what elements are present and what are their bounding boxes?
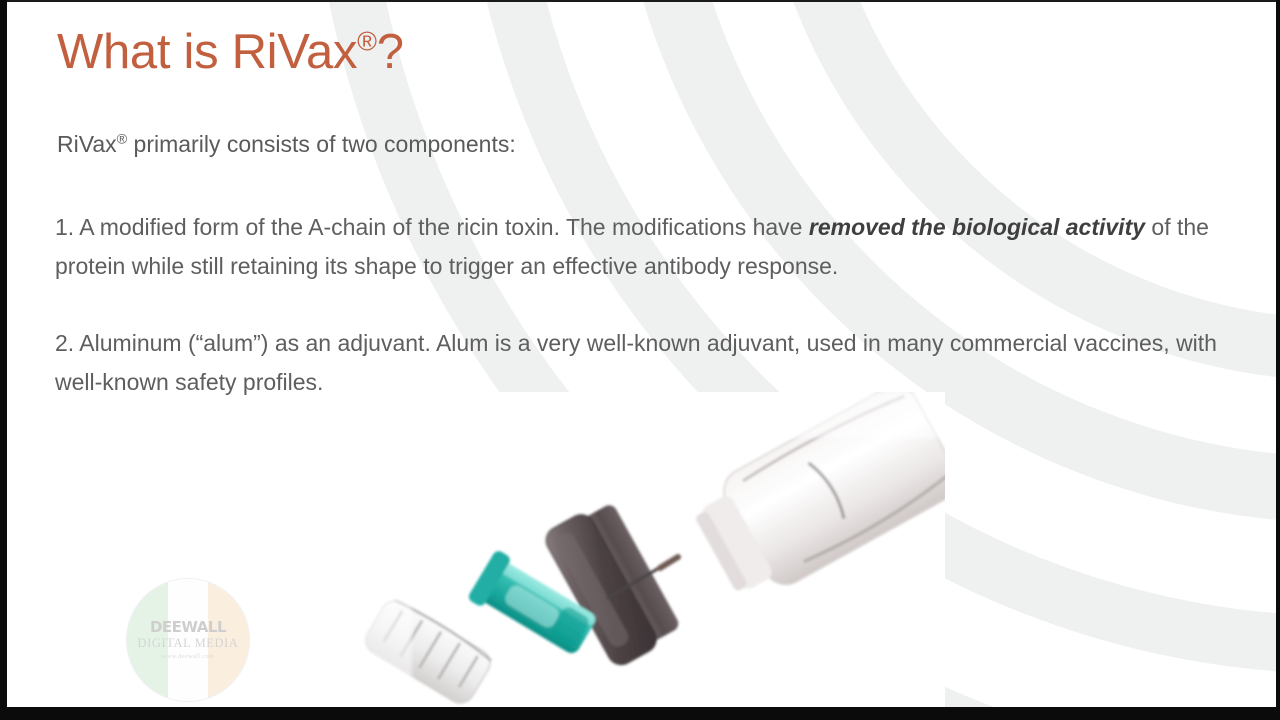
watermark-subtitle: DIGITAL MEDIA — [137, 637, 238, 650]
registered-trademark-icon: ® — [117, 131, 128, 147]
watermark-url: www.deewall.com — [162, 654, 215, 661]
paragraph-1-emphasis: removed the biological activity — [809, 214, 1145, 240]
body-paragraph-2: 2. Aluminum (“alum”) as an adjuvant. Alu… — [55, 324, 1251, 402]
paragraph-2-text: 2. Aluminum (“alum”) as an adjuvant. Alu… — [55, 330, 1217, 395]
watermark-brand: DEEWALL — [150, 620, 226, 635]
syringe-vial-photo — [360, 392, 945, 710]
bezel-top — [0, 0, 1280, 2]
lead-tail: primarily consists of two components: — [127, 131, 516, 157]
watermark-text-group: DEEWALL DIGITAL MEDIA www.deewall.com — [126, 578, 250, 702]
watermark-logo: DEEWALL DIGITAL MEDIA www.deewall.com — [126, 578, 250, 702]
page-title-text: What is RiVax — [57, 25, 357, 79]
paragraph-1-before-bold: 1. A modified form of the A-chain of the… — [55, 214, 809, 240]
presentation-slide: What is RiVax®? RiVax® primarily consist… — [0, 0, 1280, 720]
registered-trademark-icon: ® — [357, 27, 377, 57]
page-title: What is RiVax®? — [57, 26, 404, 80]
bezel-right — [1276, 0, 1280, 720]
page-title-tail: ? — [377, 25, 404, 79]
body-paragraph-1: 1. A modified form of the A-chain of the… — [55, 208, 1251, 286]
lead-paragraph: RiVax® primarily consists of two compone… — [57, 130, 516, 160]
lead-text: RiVax — [57, 131, 117, 157]
bezel-left — [0, 0, 7, 720]
